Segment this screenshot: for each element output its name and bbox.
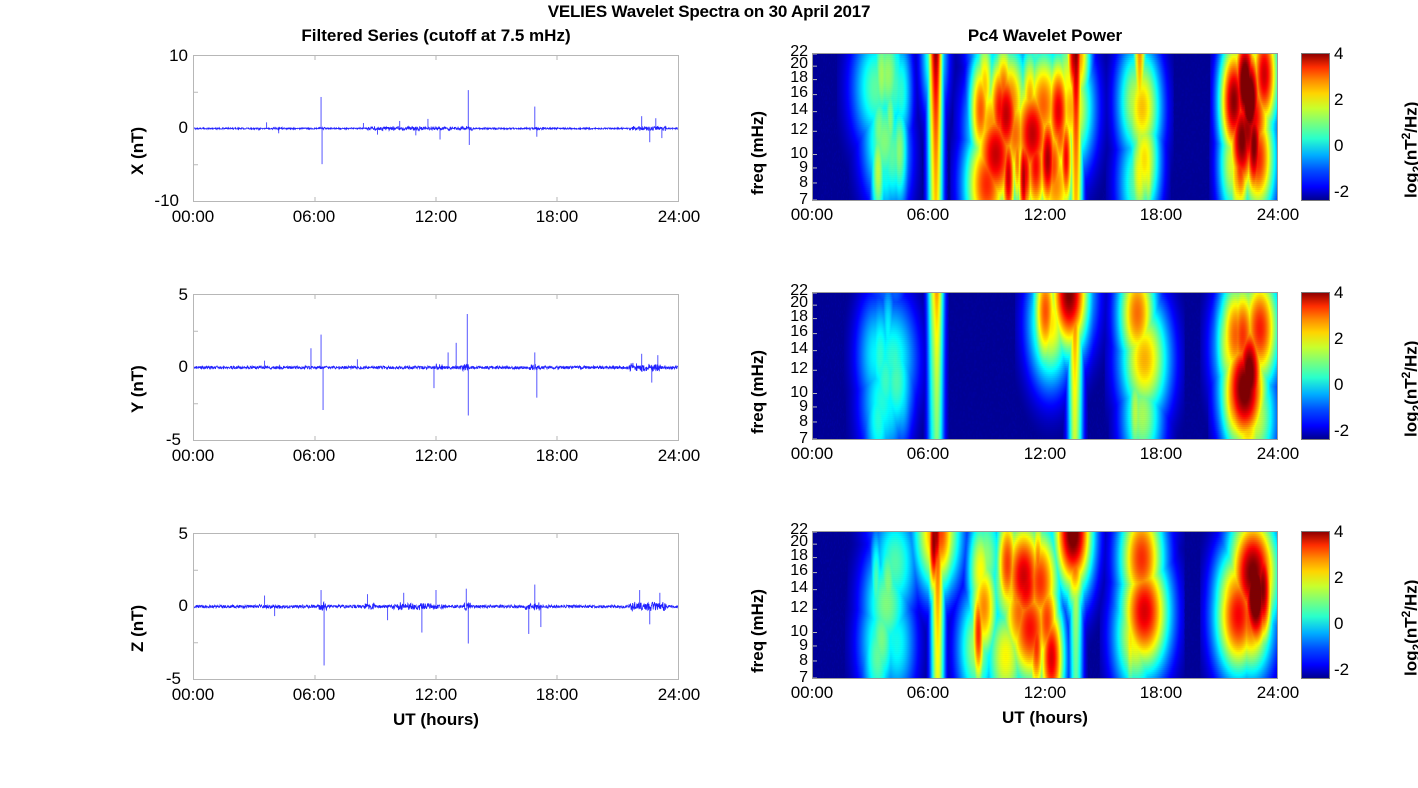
freq-tick-x-8: 8 — [768, 174, 808, 192]
xtick-y-4: 24:00 — [644, 446, 714, 466]
spectrogram-panel-x — [812, 53, 1278, 201]
xtick-y-1: 06:00 — [279, 446, 349, 466]
colorbar-label-y: log2(nT2/Hz) — [1399, 341, 1418, 437]
timeseries-panel-y — [193, 294, 679, 441]
ytick-y-1: 0 — [148, 357, 188, 377]
freq-tick-y-16: 16 — [768, 323, 808, 341]
sp-xtick-x-2: 12:00 — [1010, 205, 1080, 225]
sp-xtick-z-4: 24:00 — [1243, 683, 1313, 703]
xlabel-left: UT (hours) — [193, 710, 679, 730]
cbtick-z-2: 0 — [1334, 614, 1358, 634]
sp-xtick-z-1: 06:00 — [893, 683, 963, 703]
xtick-x-4: 24:00 — [644, 207, 714, 227]
cb-log-z: log — [1402, 651, 1418, 677]
xtick-z-2: 12:00 — [401, 685, 471, 705]
freq-tick-x-7: 7 — [768, 191, 808, 209]
freq-ylabel-x: freq (mHz) — [748, 111, 768, 195]
cb-sup-x: 2 — [1399, 133, 1413, 140]
freq-ylabel-y: freq (mHz) — [748, 350, 768, 434]
ytick-z-1: 0 — [148, 596, 188, 616]
cbtick-x-2: 0 — [1334, 136, 1358, 156]
ytick-y-0: 5 — [148, 285, 188, 305]
cbtick-z-0: 4 — [1334, 522, 1358, 542]
sp-xtick-x-3: 18:00 — [1126, 205, 1196, 225]
cb-hz-x: /Hz) — [1402, 102, 1418, 133]
cb-sub-y: 2 — [1410, 405, 1418, 412]
xtick-z-0: 00:00 — [158, 685, 228, 705]
colorbar-y — [1301, 292, 1330, 440]
cbtick-x-0: 4 — [1334, 44, 1358, 64]
cbtick-x-1: 2 — [1334, 90, 1358, 110]
ylabel-x: X (nT) — [128, 127, 148, 175]
timeseries-panel-z — [193, 533, 679, 680]
freq-tick-z-8: 8 — [768, 652, 808, 670]
xtick-y-3: 18:00 — [522, 446, 592, 466]
freq-tick-x-12: 12 — [768, 121, 808, 139]
sp-xtick-x-4: 24:00 — [1243, 205, 1313, 225]
xlabel-right: UT (hours) — [812, 708, 1278, 728]
right-column-title: Pc4 Wavelet Power — [812, 26, 1278, 46]
xtick-x-0: 00:00 — [158, 207, 228, 227]
xtick-x-2: 12:00 — [401, 207, 471, 227]
timeseries-plot-x — [194, 56, 678, 201]
freq-tick-z-16: 16 — [768, 562, 808, 580]
freq-tick-y-14: 14 — [768, 340, 808, 358]
freq-tick-y-8: 8 — [768, 413, 808, 431]
xtick-x-3: 18:00 — [522, 207, 592, 227]
cb-sup-z: 2 — [1399, 611, 1413, 618]
colorbar-label-z: log2(nT2/Hz) — [1399, 580, 1418, 676]
freq-ylabel-z: freq (mHz) — [748, 589, 768, 673]
xtick-y-0: 00:00 — [158, 446, 228, 466]
sp-xtick-y-1: 06:00 — [893, 444, 963, 464]
sp-xtick-z-2: 12:00 — [1010, 683, 1080, 703]
colorbar-label-x: log2(nT2/Hz) — [1399, 102, 1418, 198]
freq-tick-z-12: 12 — [768, 599, 808, 617]
xtick-z-3: 18:00 — [522, 685, 592, 705]
timeseries-plot-y — [194, 295, 678, 440]
freq-tick-z-14: 14 — [768, 579, 808, 597]
xtick-z-4: 24:00 — [644, 685, 714, 705]
freq-tick-x-14: 14 — [768, 101, 808, 119]
colorbar-z — [1301, 531, 1330, 679]
cb-log-y: log — [1402, 412, 1418, 438]
spectrogram-panel-y — [812, 292, 1278, 440]
cbtick-y-0: 4 — [1334, 283, 1358, 303]
sp-xtick-y-3: 18:00 — [1126, 444, 1196, 464]
cb-nt-y: (nT — [1402, 378, 1418, 404]
ytick-z-0: 5 — [148, 524, 188, 544]
sp-xtick-x-1: 06:00 — [893, 205, 963, 225]
xtick-z-1: 06:00 — [279, 685, 349, 705]
cb-sub-x: 2 — [1410, 166, 1418, 173]
timeseries-plot-z — [194, 534, 678, 679]
cb-log-x: log — [1402, 173, 1418, 199]
freq-tick-y-12: 12 — [768, 360, 808, 378]
colorbar-x — [1301, 53, 1330, 201]
cb-nt-x: (nT — [1402, 139, 1418, 165]
xtick-y-2: 12:00 — [401, 446, 471, 466]
left-column-title: Filtered Series (cutoff at 7.5 mHz) — [193, 26, 679, 46]
freq-tick-y-7: 7 — [768, 430, 808, 448]
xtick-x-1: 06:00 — [279, 207, 349, 227]
cb-sup-y: 2 — [1399, 372, 1413, 379]
figure-title: VELIES Wavelet Spectra on 30 April 2017 — [0, 2, 1418, 22]
cbtick-y-3: -2 — [1334, 421, 1358, 441]
ylabel-y: Y (nT) — [128, 365, 148, 413]
cb-sub-z: 2 — [1410, 644, 1418, 651]
ylabel-z: Z (nT) — [128, 605, 148, 652]
timeseries-panel-x — [193, 55, 679, 202]
figure-canvas: VELIES Wavelet Spectra on 30 April 2017 … — [0, 0, 1418, 788]
sp-xtick-y-4: 24:00 — [1243, 444, 1313, 464]
spectrogram-panel-z — [812, 531, 1278, 679]
cbtick-z-1: 2 — [1334, 568, 1358, 588]
spectrogram-image-y — [813, 293, 1277, 439]
cbtick-x-3: -2 — [1334, 182, 1358, 202]
ytick-x-1: 0 — [148, 118, 188, 138]
cb-hz-z: /Hz) — [1402, 580, 1418, 611]
sp-xtick-y-2: 12:00 — [1010, 444, 1080, 464]
cbtick-y-1: 2 — [1334, 329, 1358, 349]
freq-tick-z-7: 7 — [768, 669, 808, 687]
ytick-x-0: 10 — [148, 46, 188, 66]
cbtick-y-2: 0 — [1334, 375, 1358, 395]
freq-tick-x-16: 16 — [768, 84, 808, 102]
cb-nt-z: (nT — [1402, 617, 1418, 643]
cbtick-z-3: -2 — [1334, 660, 1358, 680]
sp-xtick-z-3: 18:00 — [1126, 683, 1196, 703]
cb-hz-y: /Hz) — [1402, 341, 1418, 372]
spectrogram-image-x — [813, 54, 1277, 200]
spectrogram-image-z — [813, 532, 1277, 678]
